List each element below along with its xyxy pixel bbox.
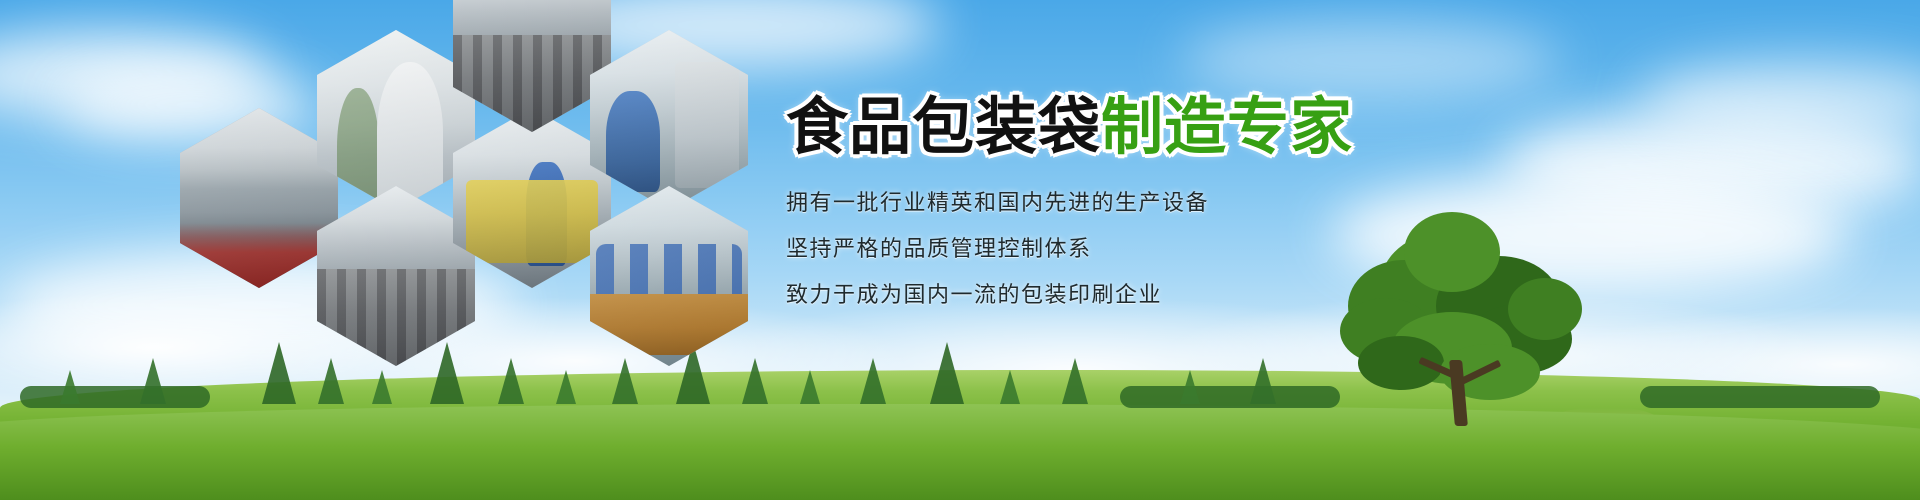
small-tree: [930, 342, 964, 404]
banner-subtitles: 拥有一批行业精英和国内先进的生产设备 坚持严格的品质管理控制体系 致力于成为国内…: [786, 192, 1486, 309]
page-title: 食品包装袋制造专家: [786, 96, 1486, 158]
banner-text-block: 食品包装袋制造专家 拥有一批行业精英和国内先进的生产设备 坚持严格的品质管理控制…: [786, 96, 1486, 331]
hedge-shape: [20, 386, 210, 408]
headline-green-part: 制造专家: [1101, 90, 1353, 163]
cloud-shape: [1180, 20, 1560, 100]
hex-photo-warehouse-printing-hall: [453, 0, 611, 132]
headline-dark-part: 食品包装袋: [786, 90, 1101, 163]
small-tree: [1180, 370, 1200, 404]
hex-photo-printing-press-operator: [453, 108, 611, 288]
hex-photo-lab-technician: [317, 30, 475, 210]
small-tree: [860, 358, 886, 404]
hex-photo-collage: [150, 8, 790, 378]
hex-photo-factory-floor-red-aisle: [180, 108, 338, 288]
subtitle-line-2: 坚持严格的品质管理控制体系: [786, 238, 1486, 262]
subtitle-line-3: 致力于成为国内一流的包装印刷企业: [786, 284, 1486, 308]
small-tree: [1000, 370, 1020, 404]
hedge-shape: [1120, 386, 1340, 408]
hex-photo-assembly-line-workers: [590, 186, 748, 366]
hedge-shape: [1640, 386, 1880, 408]
hero-banner: 食品包装袋制造专家 拥有一批行业精英和国内先进的生产设备 坚持严格的品质管理控制…: [0, 0, 1920, 500]
small-tree: [800, 370, 820, 404]
small-tree: [60, 370, 80, 404]
hex-photo-machine-shop: [317, 186, 475, 366]
small-tree: [1250, 358, 1276, 404]
small-tree: [1062, 358, 1088, 404]
hex-photo-warehouse-overview: [590, 30, 748, 210]
grass-foreground: [0, 404, 1920, 500]
subtitle-line-1: 拥有一批行业精英和国内先进的生产设备: [786, 192, 1486, 216]
